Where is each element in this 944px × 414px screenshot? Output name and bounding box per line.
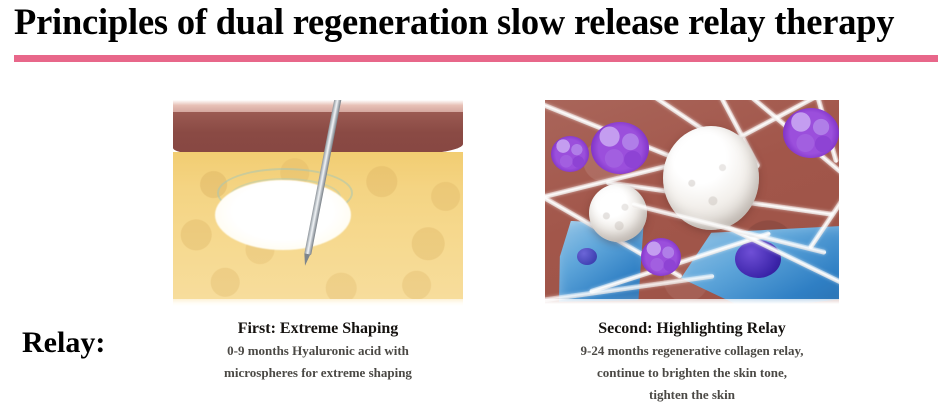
purple-cell-cluster [641, 238, 681, 276]
caption-heading: Second: Highlighting Relay [545, 318, 839, 340]
purple-cell-cluster [591, 122, 649, 174]
page-title: Principles of dual regeneration slow rel… [14, 2, 924, 44]
collagen-microsphere-matrix-illustration [545, 100, 839, 304]
skin-cross-section-injection-illustration [173, 100, 463, 306]
panel-first-extreme-shaping: First: Extreme Shaping 0-9 months Hyalur… [173, 100, 463, 384]
caption-line: 9-24 months regenerative collagen relay, [545, 340, 839, 362]
fibroblast-nucleus-right [735, 240, 781, 278]
caption-second: Second: Highlighting Relay 9-24 months r… [545, 318, 839, 406]
microsphere-small [589, 184, 647, 242]
title-divider [14, 55, 938, 62]
row-label-relay: Relay: [22, 326, 105, 360]
caption-first: First: Extreme Shaping 0-9 months Hyalur… [173, 318, 463, 384]
figure-baseline [545, 299, 839, 304]
caption-line: microspheres for extreme shaping [173, 362, 463, 384]
panel-second-highlighting-relay: Second: Highlighting Relay 9-24 months r… [545, 100, 839, 406]
purple-cell-cluster [783, 108, 839, 158]
caption-heading: First: Extreme Shaping [173, 318, 463, 340]
caption-line: tighten the skin [545, 384, 839, 406]
caption-line: 0-9 months Hyaluronic acid with [173, 340, 463, 362]
filler-deposit [215, 180, 351, 250]
purple-cell-cluster [551, 136, 589, 172]
figure-baseline [173, 299, 463, 306]
caption-line: continue to brighten the skin tone, [545, 362, 839, 384]
fibroblast-nucleus-left [577, 248, 597, 265]
